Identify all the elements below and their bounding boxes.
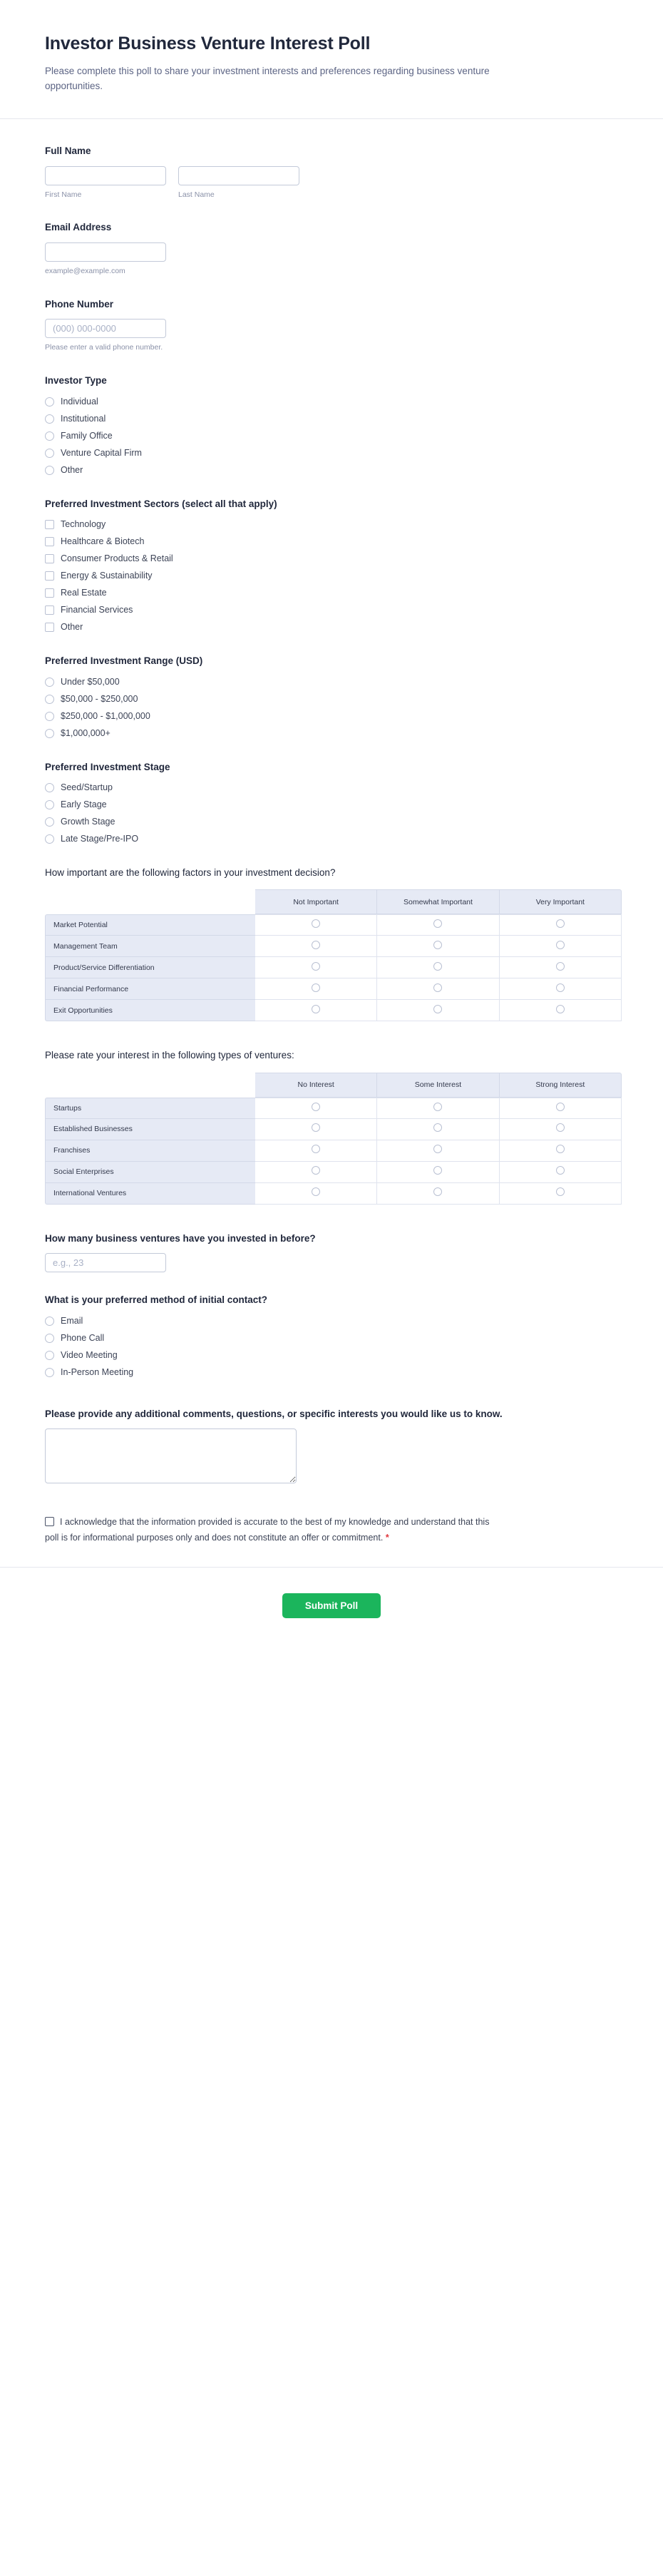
radio-label: Phone Call [61, 1332, 104, 1344]
last-name-sublabel: Last Name [178, 190, 299, 200]
matrix-cell[interactable] [377, 1140, 499, 1162]
radio-option[interactable]: Seed/Startup [45, 782, 618, 794]
radio-icon[interactable] [45, 449, 54, 458]
radio-label: Family Office [61, 430, 113, 442]
radio-label: Seed/Startup [61, 782, 113, 794]
matrix-cell[interactable] [255, 1000, 377, 1021]
matrix-cell[interactable] [500, 1162, 622, 1183]
matrix-column-header: Very Important [500, 889, 622, 914]
checkbox-option[interactable]: Real Estate [45, 587, 618, 599]
field-sectors: Preferred Investment Sectors (select all… [45, 497, 618, 634]
matrix-corner-cell [45, 889, 255, 914]
contact-method-options: Email Phone Call Video Meeting In-Person… [45, 1315, 618, 1379]
radio-icon[interactable] [433, 1145, 442, 1153]
matrix-row-label: Social Enterprises [45, 1162, 255, 1183]
comments-label: Please provide any additional comments, … [45, 1407, 537, 1421]
radio-icon[interactable] [556, 983, 565, 992]
ventures-count-input[interactable] [45, 1253, 166, 1272]
matrix-header-row: No Interest Some Interest Strong Interes… [45, 1073, 622, 1098]
email-label: Email Address [45, 220, 618, 235]
form-body: Full Name First Name Last Name Email Add… [0, 119, 663, 1545]
form-footer: Submit Poll [0, 1567, 663, 1652]
radio-icon[interactable] [45, 817, 54, 827]
radio-option[interactable]: $250,000 - $1,000,000 [45, 710, 618, 722]
matrix-row-label: Financial Performance [45, 978, 255, 1000]
radio-icon[interactable] [556, 1103, 565, 1111]
field-contact-method: What is your preferred method of initial… [45, 1293, 618, 1379]
radio-icon[interactable] [45, 414, 54, 424]
matrix-header-row: Not Important Somewhat Important Very Im… [45, 889, 622, 914]
checkbox-option[interactable]: Financial Services [45, 604, 618, 616]
matrix-cell[interactable] [377, 957, 499, 978]
checkbox-option[interactable]: Consumer Products & Retail [45, 553, 618, 565]
matrix-cell[interactable] [500, 1183, 622, 1205]
radio-icon[interactable] [556, 1123, 565, 1132]
radio-icon[interactable] [433, 919, 442, 928]
matrix-row-label: Product/Service Differentiation [45, 957, 255, 978]
matrix-cell[interactable] [377, 1098, 499, 1119]
field-acknowledgement: I acknowledge that the information provi… [45, 1515, 618, 1545]
matrix-cell[interactable] [377, 936, 499, 957]
page-title: Investor Business Venture Interest Poll [45, 33, 618, 55]
radio-icon[interactable] [312, 1103, 320, 1111]
radio-icon[interactable] [45, 1334, 54, 1343]
radio-icon[interactable] [312, 941, 320, 949]
matrix-table: Not Important Somewhat Important Very Im… [45, 889, 622, 1021]
radio-option[interactable]: $1,000,000+ [45, 727, 618, 740]
radio-option[interactable]: Late Stage/Pre-IPO [45, 833, 618, 845]
radio-icon[interactable] [45, 800, 54, 809]
field-investment-stage: Preferred Investment Stage Seed/Startup … [45, 760, 618, 846]
ventures-count-label: How many business ventures have you inve… [45, 1232, 618, 1246]
radio-label: Institutional [61, 413, 106, 425]
matrix-column-header: Somewhat Important [377, 889, 499, 914]
checkbox-icon[interactable] [45, 588, 54, 598]
matrix-cell[interactable] [255, 978, 377, 1000]
radio-icon[interactable] [556, 1005, 565, 1013]
matrix-row-label: Exit Opportunities [45, 1000, 255, 1021]
checkbox-option[interactable]: Energy & Sustainability [45, 570, 618, 582]
radio-label: $50,000 - $250,000 [61, 693, 138, 705]
checkbox-option[interactable]: Healthcare & Biotech [45, 536, 618, 548]
contact-method-label: What is your preferred method of initial… [45, 1293, 618, 1307]
radio-icon[interactable] [45, 1317, 54, 1326]
checkbox-option[interactable]: Other [45, 621, 618, 633]
page-subtitle: Please complete this poll to share your … [45, 63, 501, 95]
matrix-cell[interactable] [377, 1119, 499, 1140]
radio-option[interactable]: $50,000 - $250,000 [45, 693, 618, 705]
phone-label: Phone Number [45, 297, 618, 312]
full-name-row: First Name Last Name [45, 166, 618, 200]
radio-option[interactable]: Early Stage [45, 799, 618, 811]
first-name-input[interactable] [45, 166, 166, 185]
matrix-column-header: Not Important [255, 889, 377, 914]
matrix-row-label: Management Team [45, 936, 255, 957]
radio-icon[interactable] [45, 466, 54, 475]
radio-icon[interactable] [45, 712, 54, 721]
radio-icon[interactable] [433, 1123, 442, 1132]
acknowledgement-text: I acknowledge that the information provi… [45, 1517, 489, 1543]
radio-icon[interactable] [433, 1187, 442, 1196]
matrix-cell[interactable] [500, 978, 622, 1000]
radio-icon[interactable] [556, 962, 565, 971]
radio-label: Other [61, 464, 83, 476]
checkbox-label: Financial Services [61, 604, 133, 616]
first-name-group: First Name [45, 166, 166, 200]
radio-icon[interactable] [45, 695, 54, 704]
table-row: Financial Performance [45, 978, 622, 1000]
field-matrix-interest: Please rate your interest in the followi… [45, 1048, 618, 1204]
matrix-cell[interactable] [500, 1098, 622, 1119]
radio-label: $250,000 - $1,000,000 [61, 710, 150, 722]
matrix-column-header: Strong Interest [500, 1073, 622, 1098]
matrix-cell[interactable] [255, 914, 377, 936]
field-matrix-importance: How important are the following factors … [45, 866, 618, 1021]
matrix-cell[interactable] [255, 1098, 377, 1119]
checkbox-label: Real Estate [61, 587, 107, 599]
last-name-input[interactable] [178, 166, 299, 185]
radio-label: Individual [61, 396, 98, 408]
radio-icon[interactable] [312, 1187, 320, 1196]
matrix-cell[interactable] [500, 914, 622, 936]
radio-icon[interactable] [556, 919, 565, 928]
radio-icon[interactable] [312, 1123, 320, 1132]
sectors-options: Technology Healthcare & Biotech Consumer… [45, 518, 618, 633]
matrix-corner-cell [45, 1073, 255, 1098]
radio-option[interactable]: Email [45, 1315, 618, 1327]
radio-label: Venture Capital Firm [61, 447, 142, 459]
matrix-cell[interactable] [377, 1183, 499, 1205]
matrix-cell[interactable] [377, 1162, 499, 1183]
radio-icon[interactable] [312, 919, 320, 928]
checkbox-label: Consumer Products & Retail [61, 553, 173, 565]
radio-icon[interactable] [45, 397, 54, 407]
matrix-cell[interactable] [255, 1119, 377, 1140]
email-input[interactable] [45, 242, 166, 262]
radio-label: Under $50,000 [61, 676, 120, 688]
matrix-column-header: No Interest [255, 1073, 377, 1098]
comments-textarea[interactable] [45, 1428, 297, 1483]
radio-label: Early Stage [61, 799, 107, 811]
matrix-row-label: Market Potential [45, 914, 255, 936]
radio-option[interactable]: In-Person Meeting [45, 1366, 618, 1379]
field-investment-range: Preferred Investment Range (USD) Under $… [45, 654, 618, 740]
matrix-column-header: Some Interest [377, 1073, 499, 1098]
field-investor-type: Investor Type Individual Institutional F… [45, 374, 618, 476]
checkbox-option[interactable]: Technology [45, 518, 618, 531]
table-row: Product/Service Differentiation [45, 957, 622, 978]
investment-stage-options: Seed/Startup Early Stage Growth Stage La… [45, 782, 618, 845]
radio-option[interactable]: Venture Capital Firm [45, 447, 618, 459]
matrix-row-label: International Ventures [45, 1183, 255, 1205]
radio-option[interactable]: Institutional [45, 413, 618, 425]
checkbox-icon[interactable] [45, 554, 54, 563]
matrix-row-label: Franchises [45, 1140, 255, 1162]
radio-icon[interactable] [45, 678, 54, 687]
matrix-row-label: Established Businesses [45, 1119, 255, 1140]
matrix-cell[interactable] [255, 1162, 377, 1183]
last-name-group: Last Name [178, 166, 299, 200]
table-row: Social Enterprises [45, 1162, 622, 1183]
radio-icon[interactable] [433, 1005, 442, 1013]
matrix-question: Please rate your interest in the followi… [45, 1048, 544, 1063]
field-full-name: Full Name First Name Last Name [45, 144, 618, 200]
matrix-cell[interactable] [255, 936, 377, 957]
phone-input[interactable] [45, 319, 166, 338]
matrix-cell[interactable] [500, 957, 622, 978]
acknowledgement-row[interactable]: I acknowledge that the information provi… [45, 1515, 501, 1545]
matrix-table: No Interest Some Interest Strong Interes… [45, 1073, 622, 1205]
matrix-cell[interactable] [500, 936, 622, 957]
table-row: Market Potential [45, 914, 622, 936]
checkbox-label: Other [61, 621, 83, 633]
radio-icon[interactable] [556, 1187, 565, 1196]
radio-icon[interactable] [312, 1166, 320, 1175]
radio-label: Video Meeting [61, 1349, 118, 1361]
radio-icon[interactable] [433, 1103, 442, 1111]
radio-label: In-Person Meeting [61, 1366, 133, 1379]
radio-option[interactable]: Individual [45, 396, 618, 408]
matrix-cell[interactable] [377, 914, 499, 936]
first-name-sublabel: First Name [45, 190, 166, 200]
investment-range-label: Preferred Investment Range (USD) [45, 654, 618, 668]
matrix-cell[interactable] [500, 1119, 622, 1140]
radio-option[interactable]: Under $50,000 [45, 676, 618, 688]
radio-label: Late Stage/Pre-IPO [61, 833, 138, 845]
table-row: International Ventures [45, 1183, 622, 1205]
radio-option[interactable]: Family Office [45, 430, 618, 442]
investment-range-options: Under $50,000 $50,000 - $250,000 $250,00… [45, 676, 618, 740]
radio-icon[interactable] [433, 983, 442, 992]
checkbox-icon[interactable] [45, 571, 54, 581]
checkbox-icon[interactable] [45, 605, 54, 615]
form-page: Investor Business Venture Interest Poll … [0, 0, 663, 1652]
investor-type-options: Individual Institutional Family Office V… [45, 396, 618, 476]
checkbox-icon[interactable] [45, 520, 54, 529]
checkbox-label: Energy & Sustainability [61, 570, 153, 582]
phone-sublabel: Please enter a valid phone number. [45, 342, 618, 353]
radio-icon[interactable] [45, 1368, 54, 1377]
radio-icon[interactable] [433, 941, 442, 949]
radio-icon[interactable] [312, 962, 320, 971]
checkbox-label: Technology [61, 518, 106, 531]
matrix-question: How important are the following factors … [45, 866, 544, 880]
checkbox-icon[interactable] [45, 623, 54, 632]
form-header: Investor Business Venture Interest Poll … [0, 0, 663, 119]
submit-button[interactable]: Submit Poll [282, 1593, 381, 1618]
matrix-cell[interactable] [377, 1000, 499, 1021]
matrix-cell[interactable] [377, 978, 499, 1000]
matrix-cell[interactable] [255, 957, 377, 978]
radio-icon[interactable] [45, 431, 54, 441]
full-name-label: Full Name [45, 144, 618, 158]
radio-label: Email [61, 1315, 83, 1327]
radio-icon[interactable] [556, 941, 565, 949]
radio-option[interactable]: Growth Stage [45, 816, 618, 828]
acknowledgement-checkbox-icon[interactable] [45, 1517, 54, 1526]
radio-icon[interactable] [45, 834, 54, 844]
radio-label: Growth Stage [61, 816, 115, 828]
field-phone: Phone Number Please enter a valid phone … [45, 297, 618, 353]
field-comments: Please provide any additional comments, … [45, 1407, 618, 1484]
radio-icon[interactable] [556, 1145, 565, 1153]
matrix-cell[interactable] [500, 1000, 622, 1021]
matrix-cell[interactable] [255, 1140, 377, 1162]
table-row: Exit Opportunities [45, 1000, 622, 1021]
radio-icon[interactable] [45, 729, 54, 738]
radio-icon[interactable] [312, 983, 320, 992]
radio-icon[interactable] [433, 1166, 442, 1175]
radio-icon[interactable] [433, 962, 442, 971]
required-marker: * [386, 1533, 389, 1543]
matrix-cell[interactable] [255, 1183, 377, 1205]
matrix-cell[interactable] [500, 1140, 622, 1162]
field-email: Email Address example@example.com [45, 220, 618, 276]
checkbox-icon[interactable] [45, 537, 54, 546]
table-row: Franchises [45, 1140, 622, 1162]
radio-option[interactable]: Video Meeting [45, 1349, 618, 1361]
sectors-label: Preferred Investment Sectors (select all… [45, 497, 618, 511]
radio-label: $1,000,000+ [61, 727, 110, 740]
table-row: Management Team [45, 936, 622, 957]
matrix-row-label: Startups [45, 1098, 255, 1119]
radio-option[interactable]: Other [45, 464, 618, 476]
email-sublabel: example@example.com [45, 266, 618, 277]
table-row: Established Businesses [45, 1119, 622, 1140]
table-row: Startups [45, 1098, 622, 1119]
radio-icon[interactable] [45, 1351, 54, 1360]
investor-type-label: Investor Type [45, 374, 618, 388]
radio-icon[interactable] [45, 783, 54, 792]
radio-icon[interactable] [312, 1145, 320, 1153]
radio-icon[interactable] [312, 1005, 320, 1013]
field-ventures-count: How many business ventures have you inve… [45, 1232, 618, 1273]
checkbox-label: Healthcare & Biotech [61, 536, 144, 548]
radio-option[interactable]: Phone Call [45, 1332, 618, 1344]
radio-icon[interactable] [556, 1166, 565, 1175]
investment-stage-label: Preferred Investment Stage [45, 760, 618, 775]
